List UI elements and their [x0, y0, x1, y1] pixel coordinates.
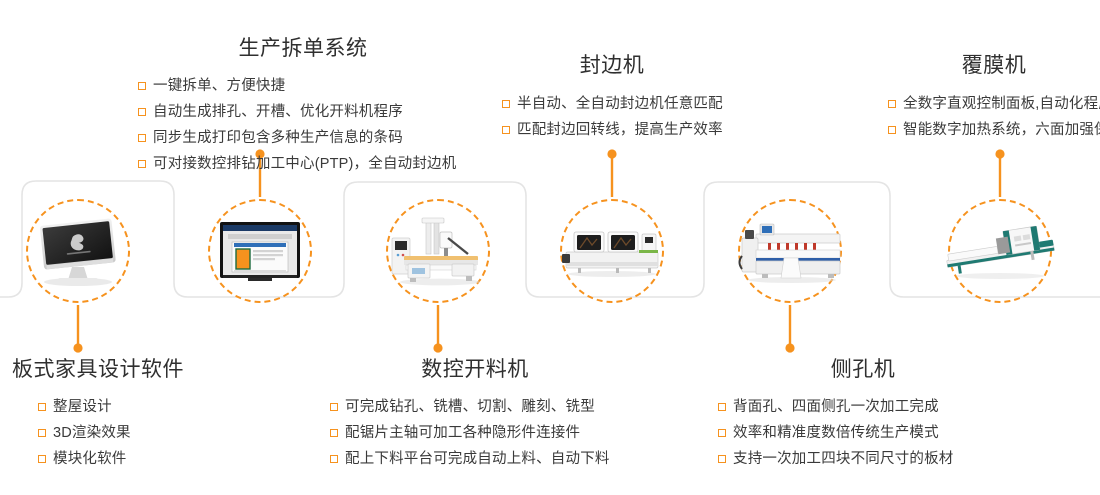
- node-edge-banding-machine[interactable]: [560, 199, 664, 303]
- bullet-square-icon: [718, 429, 726, 437]
- cnc-router-icon: [382, 212, 494, 290]
- list-item: 智能数字加热系统，六面加强保温: [888, 117, 1100, 143]
- callout-bullet-list: 半自动、全自动封边机任意匹配 匹配封边回转线，提高生产效率: [502, 91, 722, 143]
- list-item: 背面孔、四面侧孔一次加工完成: [718, 394, 1008, 420]
- bullet-square-icon: [38, 429, 46, 437]
- callout-bullet-list: 可完成钻孔、铣槽、切割、雕刻、铣型 配锯片主轴可加工各种隐形件连接件 配上下料平…: [330, 394, 620, 472]
- bullet-square-icon: [138, 82, 146, 90]
- callout-edge-banding-machine: 封边机 半自动、全自动封边机任意匹配 匹配封边回转线，提高生产效率: [502, 53, 722, 143]
- bullet-square-icon: [138, 108, 146, 116]
- bullet-square-icon: [330, 403, 338, 411]
- callout-bullet-list: 一键拆单、方便快捷 自动生成排孔、开槽、优化开料机程序 同步生成打印包含多种生产…: [138, 73, 468, 177]
- callout-cnc-cutting-machine: 数控开料机 可完成钻孔、铣槽、切割、雕刻、铣型 配锯片主轴可加工各种隐形件连接件…: [330, 357, 620, 472]
- list-item: 配锯片主轴可加工各种隐形件连接件: [330, 420, 620, 446]
- list-item: 模块化软件: [38, 446, 292, 472]
- callout-title: 生产拆单系统: [138, 36, 468, 61]
- list-item: 匹配封边回转线，提高生产效率: [502, 117, 722, 143]
- list-item: 3D渲染效果: [38, 420, 292, 446]
- bullet-square-icon: [888, 126, 896, 134]
- node-design-software[interactable]: [26, 199, 130, 303]
- callout-title: 数控开料机: [330, 357, 620, 382]
- laminator-icon: [944, 212, 1056, 290]
- desktop-monitor-icon: [22, 212, 134, 290]
- list-item: 整屋设计: [38, 394, 292, 420]
- bullet-square-icon: [718, 455, 726, 463]
- node-cnc-cutting-machine[interactable]: [386, 199, 490, 303]
- bullet-square-icon: [38, 403, 46, 411]
- bullet-square-icon: [138, 160, 146, 168]
- callout-title: 板式家具设计软件: [12, 357, 292, 382]
- node-production-split-system[interactable]: [208, 199, 312, 303]
- list-item: 可完成钻孔、铣槽、切割、雕刻、铣型: [330, 394, 620, 420]
- bullet-square-icon: [38, 455, 46, 463]
- callout-bullet-list: 整屋设计 3D渲染效果 模块化软件: [38, 394, 292, 472]
- list-item: 全数字直观控制面板,自动化程度高: [888, 91, 1100, 117]
- list-item: 效率和精准度数倍传统生产模式: [718, 420, 1008, 446]
- bullet-square-icon: [888, 100, 896, 108]
- side-drill-icon: [734, 212, 846, 290]
- bullet-square-icon: [718, 403, 726, 411]
- list-item: 支持一次加工四块不同尺寸的板材: [718, 446, 1008, 472]
- list-item: 半自动、全自动封边机任意匹配: [502, 91, 722, 117]
- bullet-square-icon: [502, 126, 510, 134]
- callout-laminating-machine: 覆膜机 全数字直观控制面板,自动化程度高 智能数字加热系统，六面加强保温: [888, 53, 1100, 143]
- bullet-square-icon: [138, 134, 146, 142]
- list-item: 可对接数控排钻加工中心(PTP)，全自动封边机: [138, 151, 468, 177]
- list-item: 同步生成打印包含多种生产信息的条码: [138, 125, 468, 151]
- bullet-square-icon: [502, 100, 510, 108]
- callout-production-split-system: 生产拆单系统 一键拆单、方便快捷 自动生成排孔、开槽、优化开料机程序 同步生成打…: [138, 36, 468, 177]
- callout-side-hole-machine: 侧孔机 背面孔、四面侧孔一次加工完成 效率和精准度数倍传统生产模式 支持一次加工…: [718, 357, 1008, 472]
- callout-design-software: 板式家具设计软件 整屋设计 3D渲染效果 模块化软件: [12, 357, 292, 472]
- list-item: 配上下料平台可完成自动上料、自动下料: [330, 446, 620, 472]
- node-side-hole-machine[interactable]: [738, 199, 842, 303]
- edge-bander-icon: [556, 212, 668, 290]
- callout-title: 封边机: [502, 53, 722, 78]
- software-screen-icon: [204, 212, 316, 290]
- node-laminating-machine[interactable]: [948, 199, 1052, 303]
- callout-bullet-list: 全数字直观控制面板,自动化程度高 智能数字加热系统，六面加强保温: [888, 91, 1100, 143]
- bullet-square-icon: [330, 455, 338, 463]
- bullet-square-icon: [330, 429, 338, 437]
- infographic-canvas: 生产拆单系统 一键拆单、方便快捷 自动生成排孔、开槽、优化开料机程序 同步生成打…: [0, 0, 1100, 495]
- list-item: 一键拆单、方便快捷: [138, 73, 468, 99]
- list-item: 自动生成排孔、开槽、优化开料机程序: [138, 99, 468, 125]
- callout-bullet-list: 背面孔、四面侧孔一次加工完成 效率和精准度数倍传统生产模式 支持一次加工四块不同…: [718, 394, 1008, 472]
- callout-title: 侧孔机: [718, 357, 1008, 382]
- callout-title: 覆膜机: [888, 53, 1100, 78]
